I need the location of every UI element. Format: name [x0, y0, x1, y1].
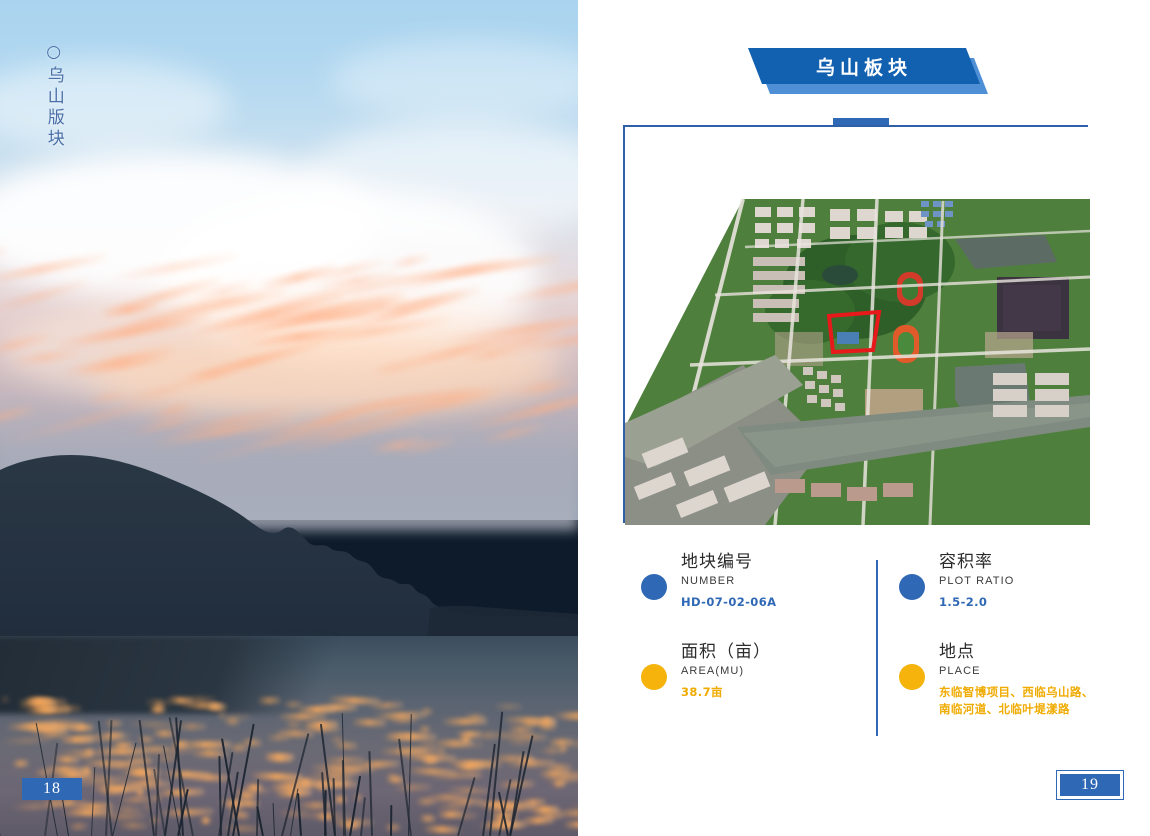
- info-column-right: 容积率 PLOT RATIO 1.5-2.0 地点 PLACE 东临智博项目、西…: [881, 552, 1131, 744]
- info-item-place: 地点 PLACE 东临智博项目、西临乌山路、 南临河道、北临叶堤漾路: [881, 642, 1131, 718]
- bullet-dot-icon: [899, 664, 925, 690]
- info-label-en: NUMBER: [681, 575, 873, 587]
- water-reflection-streak: [419, 814, 436, 822]
- water-reflection-streak: [297, 706, 337, 714]
- water-reflection-streak: [0, 696, 10, 704]
- right-page: 乌山板块: [578, 0, 1150, 836]
- info-value: HD-07-02-06A: [681, 594, 873, 611]
- water-reflection-streak: [27, 725, 66, 733]
- reed-stalk: [273, 803, 275, 836]
- water-reflection-streak: [423, 825, 461, 834]
- water-reflection-streak: [140, 804, 154, 811]
- water-reflection-streak: [12, 759, 29, 767]
- water-reflection-streak: [201, 744, 221, 751]
- info-value: 1.5-2.0: [939, 594, 1131, 611]
- page-spread: ○乌山版块 18 乌山板块: [0, 0, 1150, 836]
- info-item-area: 面积（亩） AREA(MU) 38.7亩: [623, 642, 873, 706]
- bullet-dot-icon: [899, 574, 925, 600]
- water-reflection-streak: [456, 730, 483, 737]
- page-number-left: 18: [22, 778, 82, 800]
- water-reflection-streak: [68, 822, 88, 830]
- water-reflection-streak: [369, 701, 404, 709]
- water-reflection-streak: [536, 723, 557, 731]
- water-reflection-streak: [387, 715, 417, 723]
- reed-stalk: [360, 798, 366, 836]
- lake-water: [0, 636, 578, 836]
- info-label-cn: 面积（亩）: [681, 642, 873, 663]
- water-reflection-streak: [232, 787, 270, 795]
- water-reflection-streak: [435, 740, 474, 747]
- water-reflection-streak: [520, 816, 554, 825]
- info-label-en: AREA(MU): [681, 665, 873, 677]
- water-reflection-streak: [224, 717, 240, 725]
- water-reflection-streak: [104, 720, 123, 727]
- info-item-number: 地块编号 NUMBER HD-07-02-06A: [623, 552, 873, 616]
- water-reflection-streak: [1, 736, 53, 746]
- water-reflection-streak: [30, 701, 60, 709]
- info-item-plot-ratio: 容积率 PLOT RATIO 1.5-2.0: [881, 552, 1131, 616]
- plot-boundary-outline: [825, 310, 885, 355]
- info-value: 东临智博项目、西临乌山路、 南临河道、北临叶堤漾路: [939, 684, 1131, 717]
- water-reflection-streak: [507, 726, 534, 734]
- water-reflection-streak: [188, 774, 231, 783]
- water-reflection-streak: [521, 719, 538, 727]
- water-reflection-streak: [127, 719, 182, 729]
- info-label-cn: 地块编号: [681, 552, 873, 573]
- water-reflection-streak: [236, 813, 250, 820]
- banner-shape: 乌山板块: [748, 48, 980, 84]
- cloud-streak: [509, 377, 576, 398]
- section-banner: 乌山板块: [748, 48, 988, 94]
- info-label-cn: 地点: [939, 642, 1131, 663]
- water-reflection-streak: [144, 698, 171, 706]
- water-reflection-streak: [81, 767, 92, 774]
- column-divider: [876, 560, 878, 736]
- reed-stalk: [390, 805, 392, 836]
- page-number-right: 19: [1060, 774, 1120, 796]
- vertical-caption: ○乌山版块: [44, 42, 63, 150]
- reed-stalk: [0, 807, 1, 836]
- water-reflection-streak: [551, 779, 567, 787]
- water-reflection-streak: [528, 806, 561, 813]
- left-page: ○乌山版块 18: [0, 0, 578, 836]
- water-reflection-streak: [116, 784, 159, 792]
- water-reflection-streak: [53, 756, 80, 764]
- cloud-streak: [368, 361, 416, 377]
- water-reflection-streak: [262, 753, 294, 761]
- info-label-en: PLACE: [939, 665, 1131, 677]
- water-reflection-streak: [149, 705, 166, 713]
- sunset-lake-photo: ○乌山版块 18: [0, 0, 578, 836]
- water-reflection-streak: [441, 718, 488, 725]
- info-label-cn: 容积率: [939, 552, 1131, 573]
- water-reflection-streak: [69, 724, 94, 731]
- water-reflection-streak: [182, 696, 216, 703]
- water-reflection-streak: [117, 821, 148, 829]
- water-reflection-streak: [566, 739, 578, 747]
- water-reflection-streak: [351, 719, 387, 727]
- water-reflection-streak: [353, 760, 401, 769]
- bullet-dot-icon: [641, 574, 667, 600]
- water-reflection-streak: [566, 803, 578, 812]
- water-reflection-streak: [392, 783, 432, 791]
- plot-info-block: 地块编号 NUMBER HD-07-02-06A 面积（亩） AREA(MU) …: [623, 552, 1123, 737]
- water-reflection-streak: [563, 821, 578, 828]
- water-reflection-streak: [112, 805, 143, 814]
- bullet-dot-icon: [641, 664, 667, 690]
- water-reflection-streak: [420, 708, 433, 715]
- water-reflection-streak: [284, 721, 304, 729]
- water-reflection-streak: [497, 780, 535, 789]
- cloud-streak: [0, 278, 90, 315]
- banner-title: 乌山板块: [816, 53, 912, 80]
- cloud-streak: [0, 252, 107, 287]
- water-reflection-streak: [551, 711, 578, 718]
- water-reflection-streak: [493, 703, 523, 710]
- cloud-streak: [387, 252, 432, 270]
- info-label-en: PLOT RATIO: [939, 575, 1131, 587]
- map-frame: [623, 125, 1088, 523]
- water-reflection-streak: [282, 701, 302, 709]
- cloud-streak: [0, 245, 10, 265]
- info-value: 38.7亩: [681, 684, 873, 701]
- page-number-right-frame: 19: [1056, 770, 1124, 800]
- info-column-left: 地块编号 NUMBER HD-07-02-06A 面积（亩） AREA(MU) …: [623, 552, 873, 732]
- cloud-streak: [10, 348, 80, 367]
- water-reflection-streak: [540, 747, 565, 755]
- water-reflection-streak: [257, 697, 281, 704]
- water-reflection-streak: [384, 824, 401, 831]
- water-reflection-streak: [199, 817, 211, 824]
- water-reflection-streak: [111, 742, 134, 750]
